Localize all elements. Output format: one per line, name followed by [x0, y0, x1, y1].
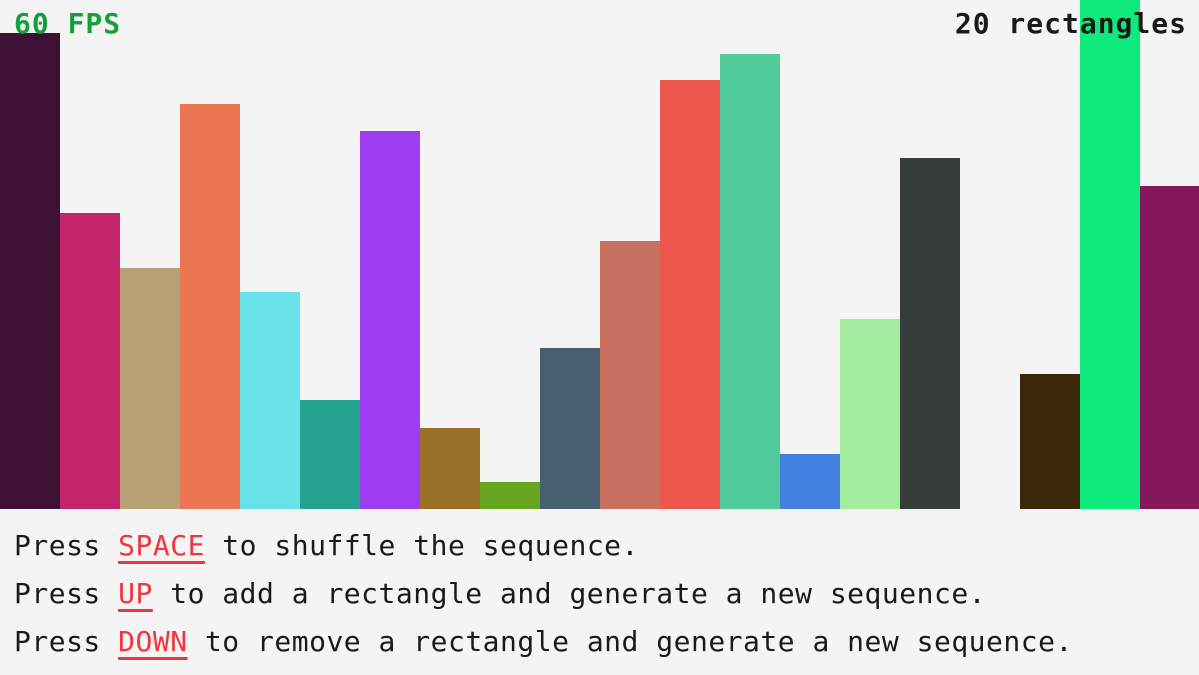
instruction-line: Press UP to add a rectangle and generate…	[14, 570, 1199, 618]
rectangle-canvas[interactable]	[0, 0, 1199, 509]
bar-rectangle	[1080, 0, 1140, 509]
bar-rectangle	[1140, 186, 1199, 509]
instruction-prefix: Press	[14, 529, 118, 562]
bar-rectangle	[660, 80, 720, 509]
app-root: 60 FPS 20 rectangles Press SPACE to shuf…	[0, 0, 1199, 675]
key-hint-space[interactable]: SPACE	[118, 529, 205, 562]
instruction-prefix: Press	[14, 577, 118, 610]
bar-rectangle	[540, 348, 600, 509]
bar-rectangle	[600, 241, 660, 509]
bar-rectangle	[0, 33, 60, 509]
bar-rectangle	[420, 428, 480, 509]
bar-rectangle	[900, 158, 960, 509]
instruction-line: Press DOWN to remove a rectangle and gen…	[14, 618, 1199, 666]
bar-rectangle	[1020, 374, 1080, 509]
instruction-line: Press SPACE to shuffle the sequence.	[14, 522, 1199, 570]
key-hint-up[interactable]: UP	[118, 577, 153, 610]
instruction-suffix: to remove a rectangle and generate a new…	[188, 625, 1073, 658]
bar-rectangle	[780, 454, 840, 509]
key-hint-down[interactable]: DOWN	[118, 625, 187, 658]
bar-rectangle	[240, 292, 300, 509]
bar-rectangle	[840, 319, 900, 509]
bar-rectangle	[480, 482, 540, 509]
bar-rectangle	[120, 268, 180, 509]
bar-rectangle	[300, 400, 360, 509]
bar-rectangle	[360, 131, 420, 509]
bar-rectangle	[180, 104, 240, 509]
instruction-suffix: to add a rectangle and generate a new se…	[153, 577, 986, 610]
instructions-panel: Press SPACE to shuffle the sequence.Pres…	[0, 512, 1199, 675]
instruction-prefix: Press	[14, 625, 118, 658]
bar-rectangle	[60, 213, 120, 509]
instruction-suffix: to shuffle the sequence.	[205, 529, 639, 562]
bar-rectangle	[720, 54, 780, 509]
